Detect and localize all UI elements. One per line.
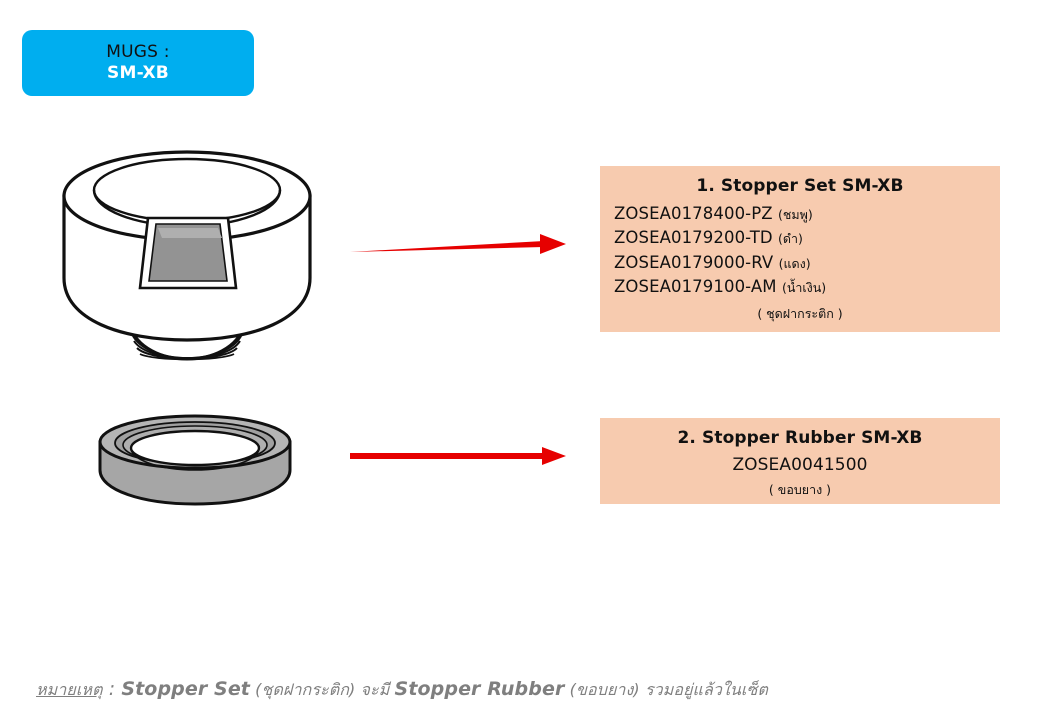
part-color-th: (น้ำเงิน) <box>782 280 826 295</box>
part-code: ZOSEA0179100-AM <box>614 277 777 296</box>
footer-note-mid-th: จะมี <box>361 680 395 699</box>
footer-note-part1-th: (ชุดฝากระติก) <box>250 680 361 699</box>
part-row: ZOSEA0179200-TD (ดำ) <box>614 226 986 250</box>
stopper-top-recess <box>94 159 280 226</box>
footer-note-sep: : <box>103 678 122 700</box>
title-badge: MUGS : SM-XB <box>22 30 254 96</box>
rubber-ring-body <box>100 416 290 504</box>
info-box-1-title: 1. Stopper Set SM-XB <box>614 176 986 196</box>
part-code: ZOSEA0178400-PZ <box>614 204 773 223</box>
stopper-push-button <box>140 218 236 288</box>
footer-note-part1-en: Stopper Set <box>121 678 250 700</box>
part-color-th: (แดง) <box>779 256 811 271</box>
part-code: ZOSEA0179000-RV <box>614 253 773 272</box>
part-row: ZOSEA0179100-AM (น้ำเงิน) <box>614 275 986 299</box>
info-box-stopper-rubber: 2. Stopper Rubber SM-XB ZOSEA0041500 ( ข… <box>600 418 1000 504</box>
footer-note: หมายเหตุ : Stopper Set (ชุดฝากระติก) จะม… <box>36 678 768 703</box>
stopper-set-drawing <box>52 148 322 392</box>
footer-note-part2-th: (ขอบยาง) รวมอยู่แล้วในเซ็ต <box>564 680 768 699</box>
info-box-stopper-set: 1. Stopper Set SM-XB ZOSEA0178400-PZ (ชม… <box>600 166 1000 332</box>
footer-note-label: หมายเหตุ <box>36 680 103 699</box>
stopper-rubber-drawing <box>92 412 302 516</box>
arrow-to-stopper-set <box>348 232 572 262</box>
part-row: ZOSEA0178400-PZ (ชมพู) <box>614 202 986 226</box>
part-row: ZOSEA0179000-RV (แดง) <box>614 251 986 275</box>
title-badge-line1: MUGS : <box>106 42 169 63</box>
part-color-th: (ดำ) <box>778 231 803 246</box>
part-color-th: (ชมพู) <box>778 207 813 222</box>
info-box-2-subtitle: ( ขอบยาง ) <box>614 480 986 500</box>
info-box-1-subtitle: ( ชุดฝากระติก ) <box>614 304 986 324</box>
arrow-to-stopper-rubber <box>348 444 572 474</box>
title-badge-line2: SM-XB <box>107 63 169 84</box>
info-box-2-code: ZOSEA0041500 <box>614 454 986 476</box>
info-box-2-title: 2. Stopper Rubber SM-XB <box>614 428 986 448</box>
footer-note-part2-en: Stopper Rubber <box>395 678 565 700</box>
part-code: ZOSEA0179200-TD <box>614 228 773 247</box>
